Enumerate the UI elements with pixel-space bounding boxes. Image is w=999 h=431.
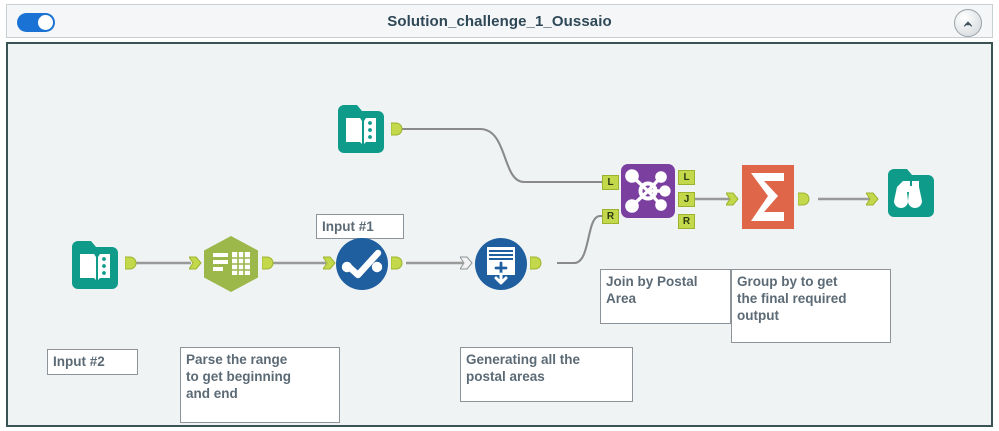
join-output-port-l[interactable]: L (678, 170, 695, 185)
window-titlebar: Solution_challenge_1_Oussaio (6, 4, 993, 38)
table-text-icon (198, 233, 264, 295)
binoculars-icon (880, 161, 942, 223)
output-anchor[interactable] (125, 256, 137, 270)
output-anchor[interactable] (530, 256, 542, 270)
page-title: Solution_challenge_1_Oussaio (7, 13, 992, 30)
sigma-icon (738, 161, 798, 233)
output-anchor[interactable] (391, 122, 403, 136)
rows-plus-icon (473, 236, 529, 292)
input-anchor[interactable] (460, 256, 473, 270)
output-anchor[interactable] (391, 256, 403, 270)
collapse-icon[interactable] (954, 9, 982, 37)
annotation-summarize: Group by to get the final required outpu… (731, 269, 891, 343)
output-anchor[interactable] (798, 192, 810, 206)
workflow-canvas[interactable]: Input #1 Input #2 (6, 42, 993, 427)
join-network-icon (619, 162, 677, 220)
join-output-port-j[interactable]: J (678, 192, 695, 207)
check-dots-icon (334, 236, 390, 292)
node-label-input-2: Input #2 (47, 349, 138, 375)
book-icon (64, 233, 126, 295)
workflow-window: Solution_challenge_1_Oussaio (0, 0, 999, 431)
annotation-parse: Parse the range to get beginning and end (180, 347, 340, 423)
annotation-join: Join by Postal Area (600, 269, 731, 324)
input-anchor[interactable] (866, 192, 879, 206)
book-icon (330, 97, 392, 159)
annotation-generate-rows: Generating all the postal areas (460, 347, 633, 402)
join-input-port-r[interactable]: R (602, 209, 619, 224)
join-output-port-r[interactable]: R (678, 214, 695, 229)
join-input-port-l[interactable]: L (602, 175, 619, 190)
output-anchor[interactable] (262, 256, 274, 270)
